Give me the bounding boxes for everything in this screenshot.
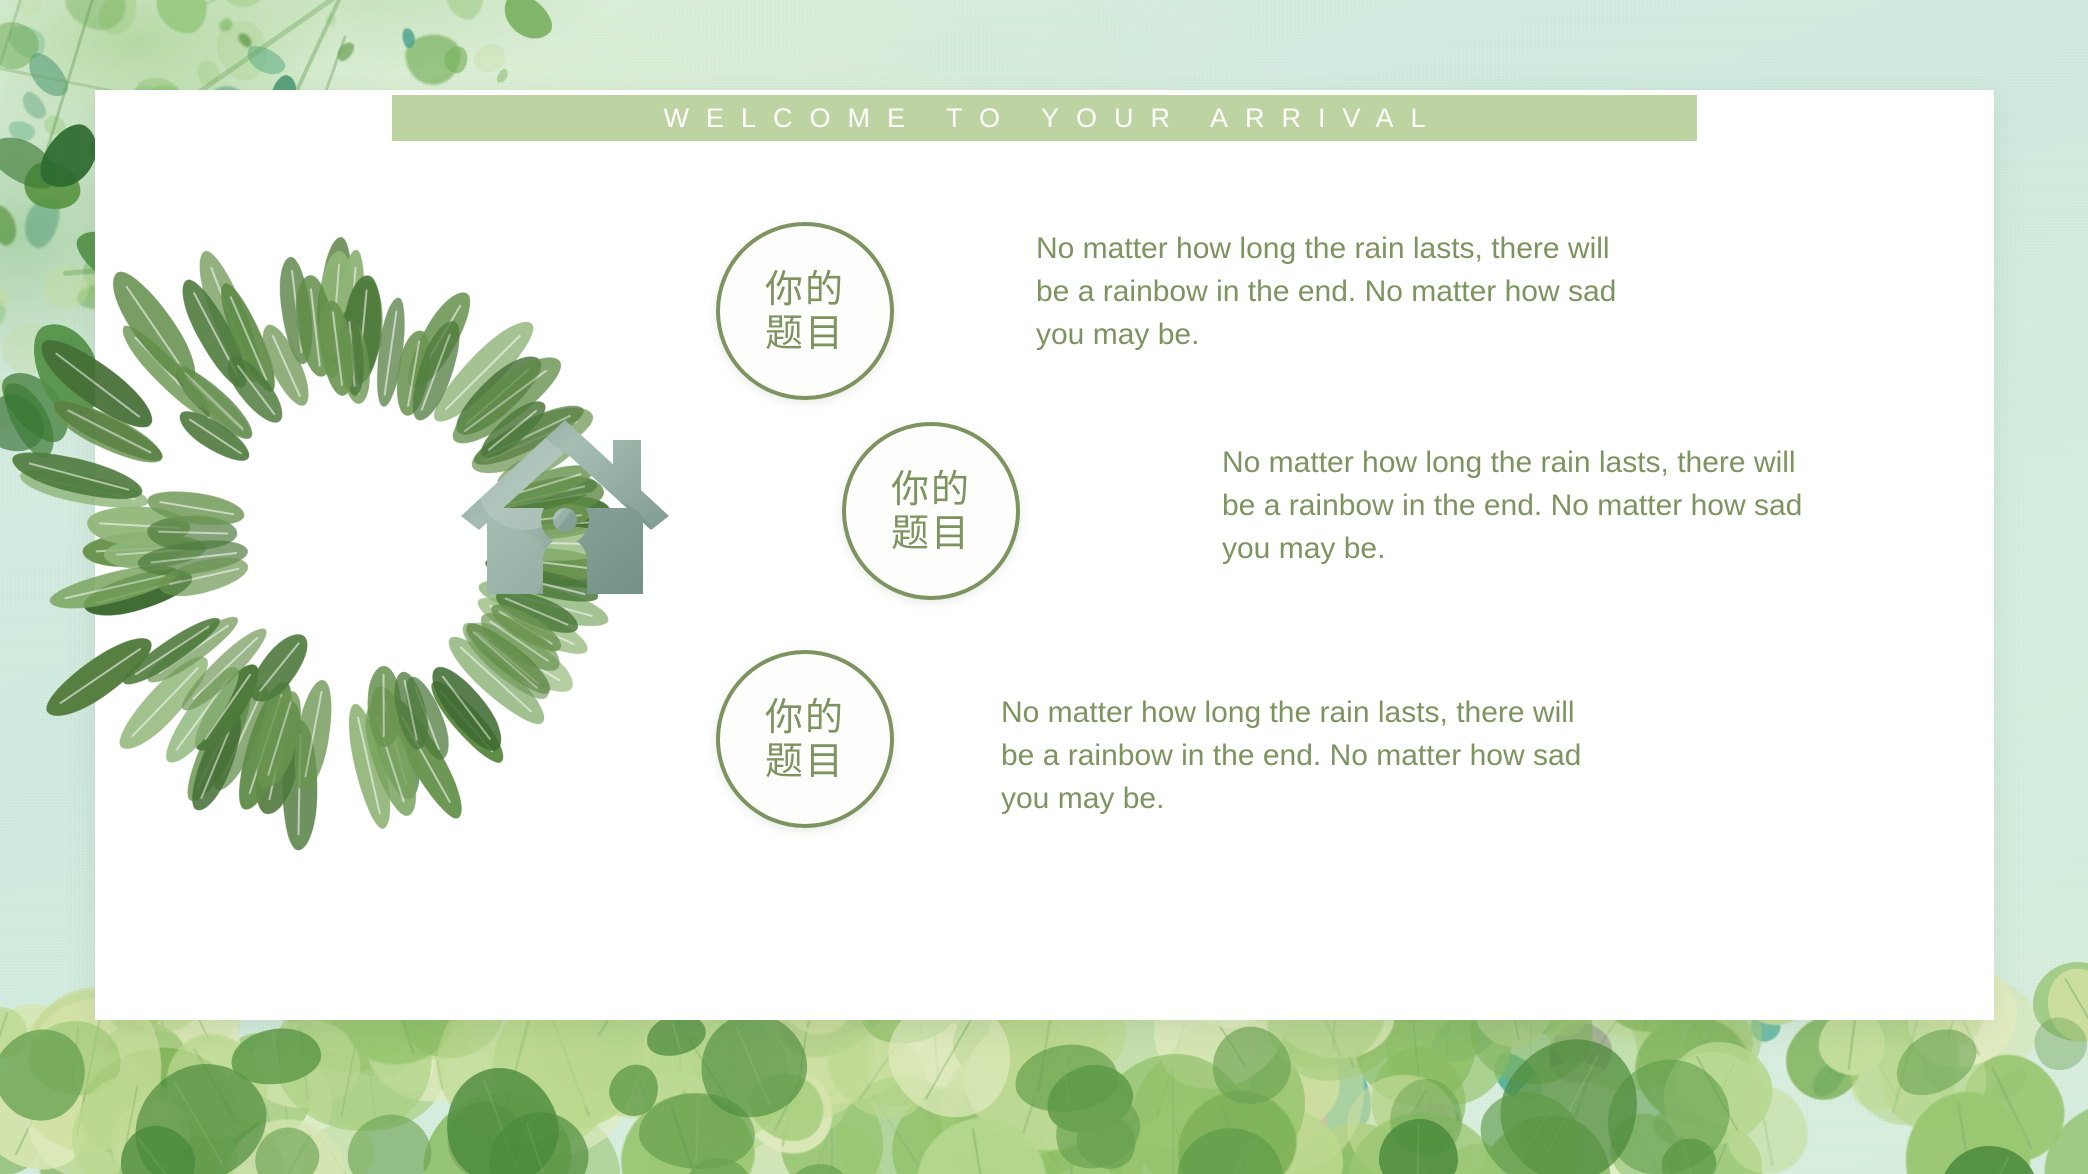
topic-body-2: No matter how long the rain lasts, there… (1222, 442, 1822, 571)
topic-body-1: No matter how long the rain lasts, there… (1036, 228, 1636, 357)
topic-badge-2-line1: 你的 (891, 467, 971, 511)
page-title: WELCOME TO YOUR ARRIVAL (646, 103, 1442, 134)
topic-badge-1[interactable]: 你的 题目 (716, 222, 894, 400)
house-icon (455, 412, 675, 602)
topic-badge-3[interactable]: 你的 题目 (716, 650, 894, 828)
topic-badge-1-line2: 题目 (765, 311, 845, 355)
topic-badge-1-line1: 你的 (765, 267, 845, 311)
topic-badge-3-line1: 你的 (765, 695, 845, 739)
topic-badge-2-line2: 题目 (891, 511, 971, 555)
topic-badge-2[interactable]: 你的 题目 (842, 422, 1020, 600)
slide-canvas: WELCOME TO YOUR ARRIVAL (0, 0, 2088, 1174)
title-banner: WELCOME TO YOUR ARRIVAL (392, 95, 1697, 141)
topic-badge-3-line2: 题目 (765, 739, 845, 783)
topic-body-3: No matter how long the rain lasts, there… (1001, 692, 1601, 821)
